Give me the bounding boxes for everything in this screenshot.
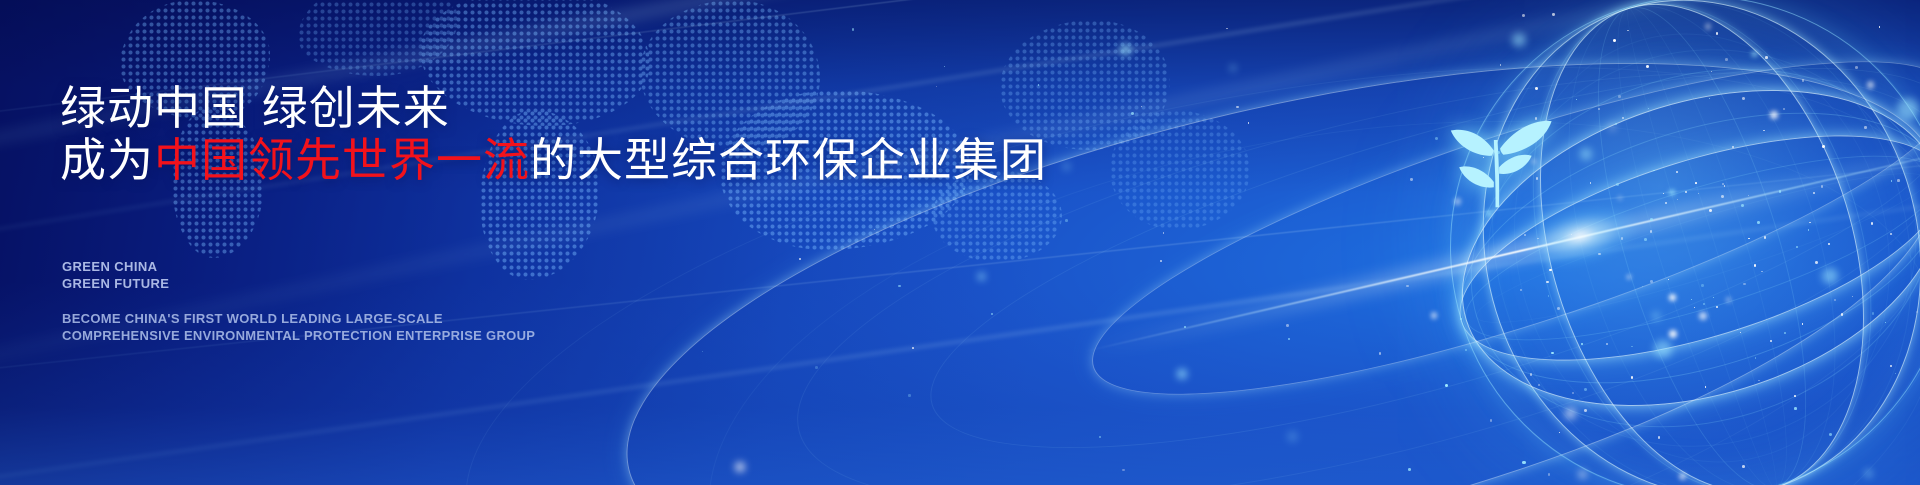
tagline-line-2: GREEN FUTURE bbox=[62, 275, 169, 292]
tagline: GREEN CHINA GREEN FUTURE bbox=[62, 258, 169, 292]
headline-line-2-suffix: 的大型综合环保企业集团 bbox=[530, 134, 1047, 186]
tagline-line-1: GREEN CHINA bbox=[62, 258, 169, 275]
headline-line-2-prefix: 成为 bbox=[60, 134, 154, 186]
hero-banner: 绿动中国 绿创未来 成为中国领先世界一流的大型综合环保企业集团 GREEN CH… bbox=[0, 0, 1920, 485]
subline-line-1: BECOME CHINA'S FIRST WORLD LEADING LARGE… bbox=[62, 310, 535, 327]
subline-line-2: COMPREHENSIVE ENVIRONMENTAL PROTECTION E… bbox=[62, 327, 535, 344]
ambient-particles bbox=[0, 0, 1920, 485]
headline-line-2: 成为中国领先世界一流的大型综合环保企业集团 bbox=[60, 134, 1047, 186]
headline-line-2-accent: 中国领先世界一流 bbox=[154, 134, 530, 186]
headline-line-1: 绿动中国 绿创未来 bbox=[60, 82, 450, 134]
subline: BECOME CHINA'S FIRST WORLD LEADING LARGE… bbox=[62, 310, 535, 344]
